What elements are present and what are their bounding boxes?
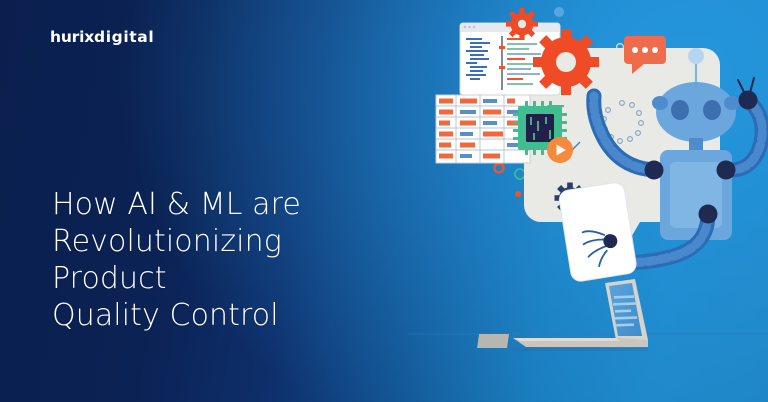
logo-text-digital: digital (94, 28, 154, 46)
play-button[interactable] (547, 137, 573, 163)
blog-banner: hurixdigital How AI & ML are Revolutioni… (0, 0, 768, 402)
headline-line-3: Product (52, 260, 392, 297)
headline-line-4: Quality Control (52, 297, 392, 334)
page-title: How AI & ML are Revolutionizing Product … (52, 186, 392, 334)
headline-line-2: Revolutionizing (52, 223, 392, 260)
decor-dot-blue-top (554, 7, 564, 17)
gear-large-orange (533, 29, 599, 95)
logo-text-hurix: hurix (50, 28, 94, 46)
decor-dot-orange-small (515, 191, 521, 197)
gear-small-orange (506, 8, 538, 40)
tablet-document (558, 181, 638, 282)
decor-ring-teal (515, 169, 525, 179)
laptop (477, 279, 648, 348)
headline-line-1: How AI & ML are (52, 186, 392, 223)
laptop-shadow (513, 348, 648, 351)
hurixdigital-logo[interactable]: hurixdigital (50, 28, 154, 46)
decor-ring-orange (495, 164, 504, 173)
ai-ml-quality-control-illustration (408, 0, 768, 402)
